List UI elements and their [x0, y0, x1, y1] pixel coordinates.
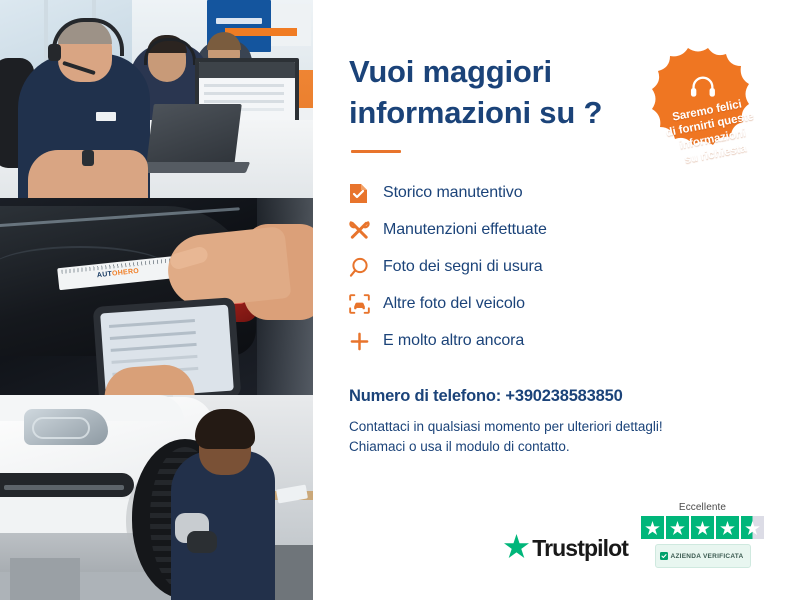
star-filled-icon — [666, 516, 689, 539]
contact-description: Contattaci in qualsiasi momento per ulte… — [349, 417, 760, 458]
photo-column: AUTOHERO — [0, 0, 313, 600]
list-item-label: Foto dei segni di usura — [383, 258, 543, 276]
car-scan-icon — [349, 294, 383, 314]
call-center-agents-photo — [0, 0, 313, 198]
document-check-icon — [349, 183, 383, 204]
plus-icon — [349, 331, 383, 352]
verified-badge: AZIENDA VERIFICATA — [655, 544, 751, 568]
workshop-technician-photo — [0, 395, 313, 600]
list-item: Manutenzioni effettuate — [349, 212, 760, 249]
content-panel: Vuoi maggiori informazioni su ? Storico … — [313, 0, 800, 600]
trustpilot-logo: Trustpilot — [504, 534, 628, 568]
status-badge: Saremo felici di fornirti queste informa… — [638, 46, 778, 186]
list-item: Altre foto del veicolo — [349, 286, 760, 323]
star-filled-icon — [641, 516, 664, 539]
tools-cross-icon — [349, 220, 383, 241]
list-item-label: E molto altro ancora — [383, 332, 524, 350]
verified-label: AZIENDA VERIFICATA — [671, 553, 744, 560]
trustpilot-rating[interactable]: Trustpilot Eccellente — [504, 502, 764, 568]
trustpilot-score: Eccellente — [641, 502, 764, 568]
list-item: Foto dei segni di usura — [349, 249, 760, 286]
trustpilot-wordmark: Trustpilot — [532, 535, 628, 562]
vehicle-inspection-photo: AUTOHERO — [0, 198, 313, 395]
promo-banner: AUTOHERO — [0, 0, 800, 600]
page-title: Vuoi maggiori informazioni su ? — [349, 52, 609, 134]
star-rating — [641, 516, 764, 539]
star-filled-icon — [716, 516, 739, 539]
check-badge-icon — [660, 547, 668, 565]
feature-list: Storico manutentivo Manutenzioni effettu… — [349, 175, 760, 360]
phone-number: Numero di telefono: +390238583850 — [349, 387, 760, 406]
contact-line-1: Contattaci in qualsiasi momento per ulte… — [349, 419, 663, 434]
list-item: E molto altro ancora — [349, 323, 760, 360]
trustpilot-star-icon — [504, 534, 529, 563]
list-item-label: Manutenzioni effettuate — [383, 221, 547, 239]
list-item-label: Storico manutentivo — [383, 184, 523, 202]
star-filled-icon — [691, 516, 714, 539]
magnifier-icon — [349, 257, 383, 278]
title-divider — [351, 150, 401, 153]
headset-icon — [690, 76, 716, 103]
star-half-icon — [741, 516, 764, 539]
rating-label: Eccellente — [679, 502, 726, 513]
contact-line-2: Chiamaci o usa il modulo di contatto. — [349, 439, 570, 454]
list-item-label: Altre foto del veicolo — [383, 295, 525, 313]
